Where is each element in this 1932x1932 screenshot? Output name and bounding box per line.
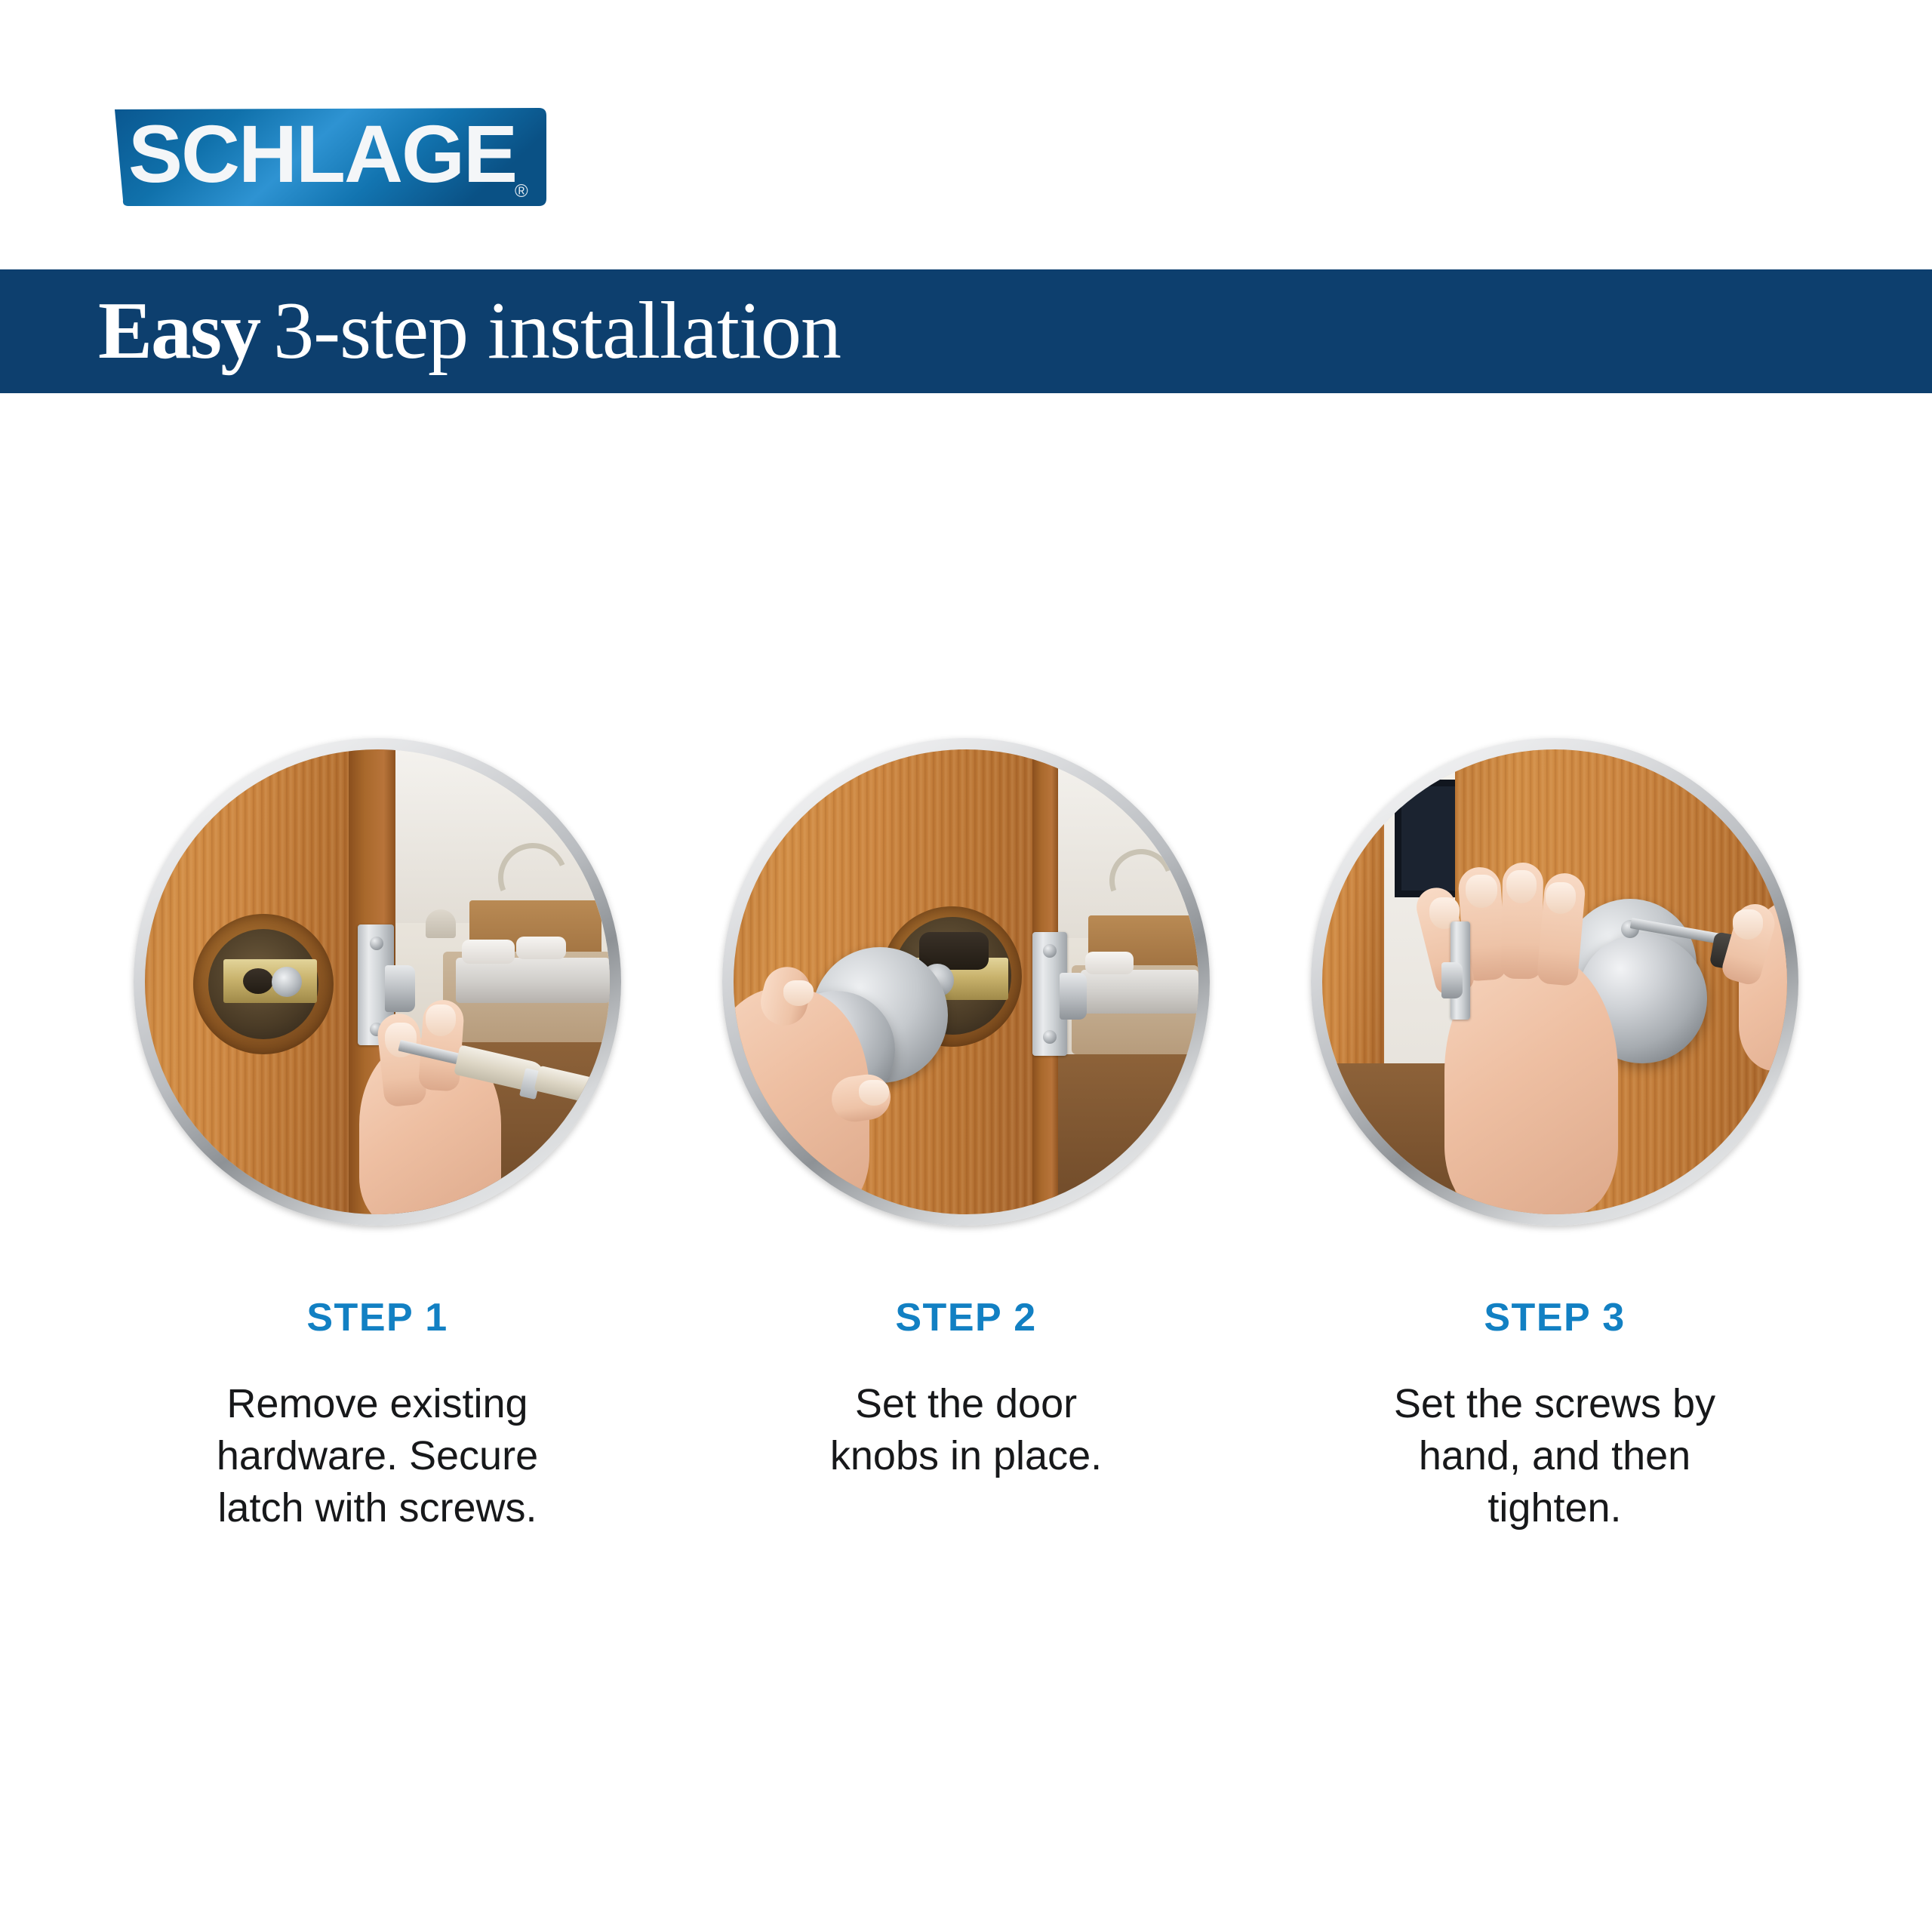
scene-set-knobs bbox=[734, 749, 1198, 1214]
step-1-description: Remove existing hardware. Secure latch w… bbox=[181, 1378, 574, 1534]
title-banner: Easy3-step installation bbox=[0, 269, 1932, 393]
registered-mark-icon: ® bbox=[515, 181, 528, 202]
scene-tighten-screws bbox=[1322, 749, 1787, 1214]
step-3-photo bbox=[1311, 738, 1798, 1226]
step-card-3: STEP 3 Set the screws by hand, and then … bbox=[1260, 679, 1849, 1534]
photo-clip-2 bbox=[734, 749, 1198, 1214]
step-3-description: Set the screws by hand, and then tighten… bbox=[1358, 1378, 1751, 1534]
schlage-logo[interactable]: SCHLAGE ® bbox=[98, 100, 558, 215]
photo-clip-3 bbox=[1322, 749, 1787, 1214]
step-card-1: STEP 1 Remove existing hardware. Secure … bbox=[83, 679, 672, 1534]
step-2-label: STEP 2 bbox=[895, 1295, 1036, 1340]
page-title-rest: 3-step installation bbox=[273, 286, 841, 376]
step-1-label: STEP 1 bbox=[306, 1295, 448, 1340]
photo-clip-1 bbox=[145, 749, 610, 1214]
banner-inner: Easy3-step installation bbox=[98, 269, 841, 393]
step-3-label: STEP 3 bbox=[1484, 1295, 1625, 1340]
steps-container: STEP 1 Remove existing hardware. Secure … bbox=[0, 679, 1932, 1660]
step-card-2: STEP 2 Set the door knobs in place. bbox=[672, 679, 1260, 1482]
hand-icon bbox=[1444, 952, 1618, 1214]
logo-badge-shape: SCHLAGE ® bbox=[98, 100, 558, 215]
logo-wordmark: SCHLAGE bbox=[128, 108, 516, 199]
step-2-photo bbox=[722, 738, 1210, 1226]
page-header: SCHLAGE ® bbox=[0, 0, 1932, 269]
step-2-description: Set the door knobs in place. bbox=[770, 1378, 1162, 1482]
page-title-bold: Easy bbox=[98, 286, 260, 376]
step-1-photo bbox=[134, 738, 621, 1226]
scene-remove-hardware bbox=[145, 749, 610, 1214]
page-title: Easy3-step installation bbox=[98, 291, 841, 372]
